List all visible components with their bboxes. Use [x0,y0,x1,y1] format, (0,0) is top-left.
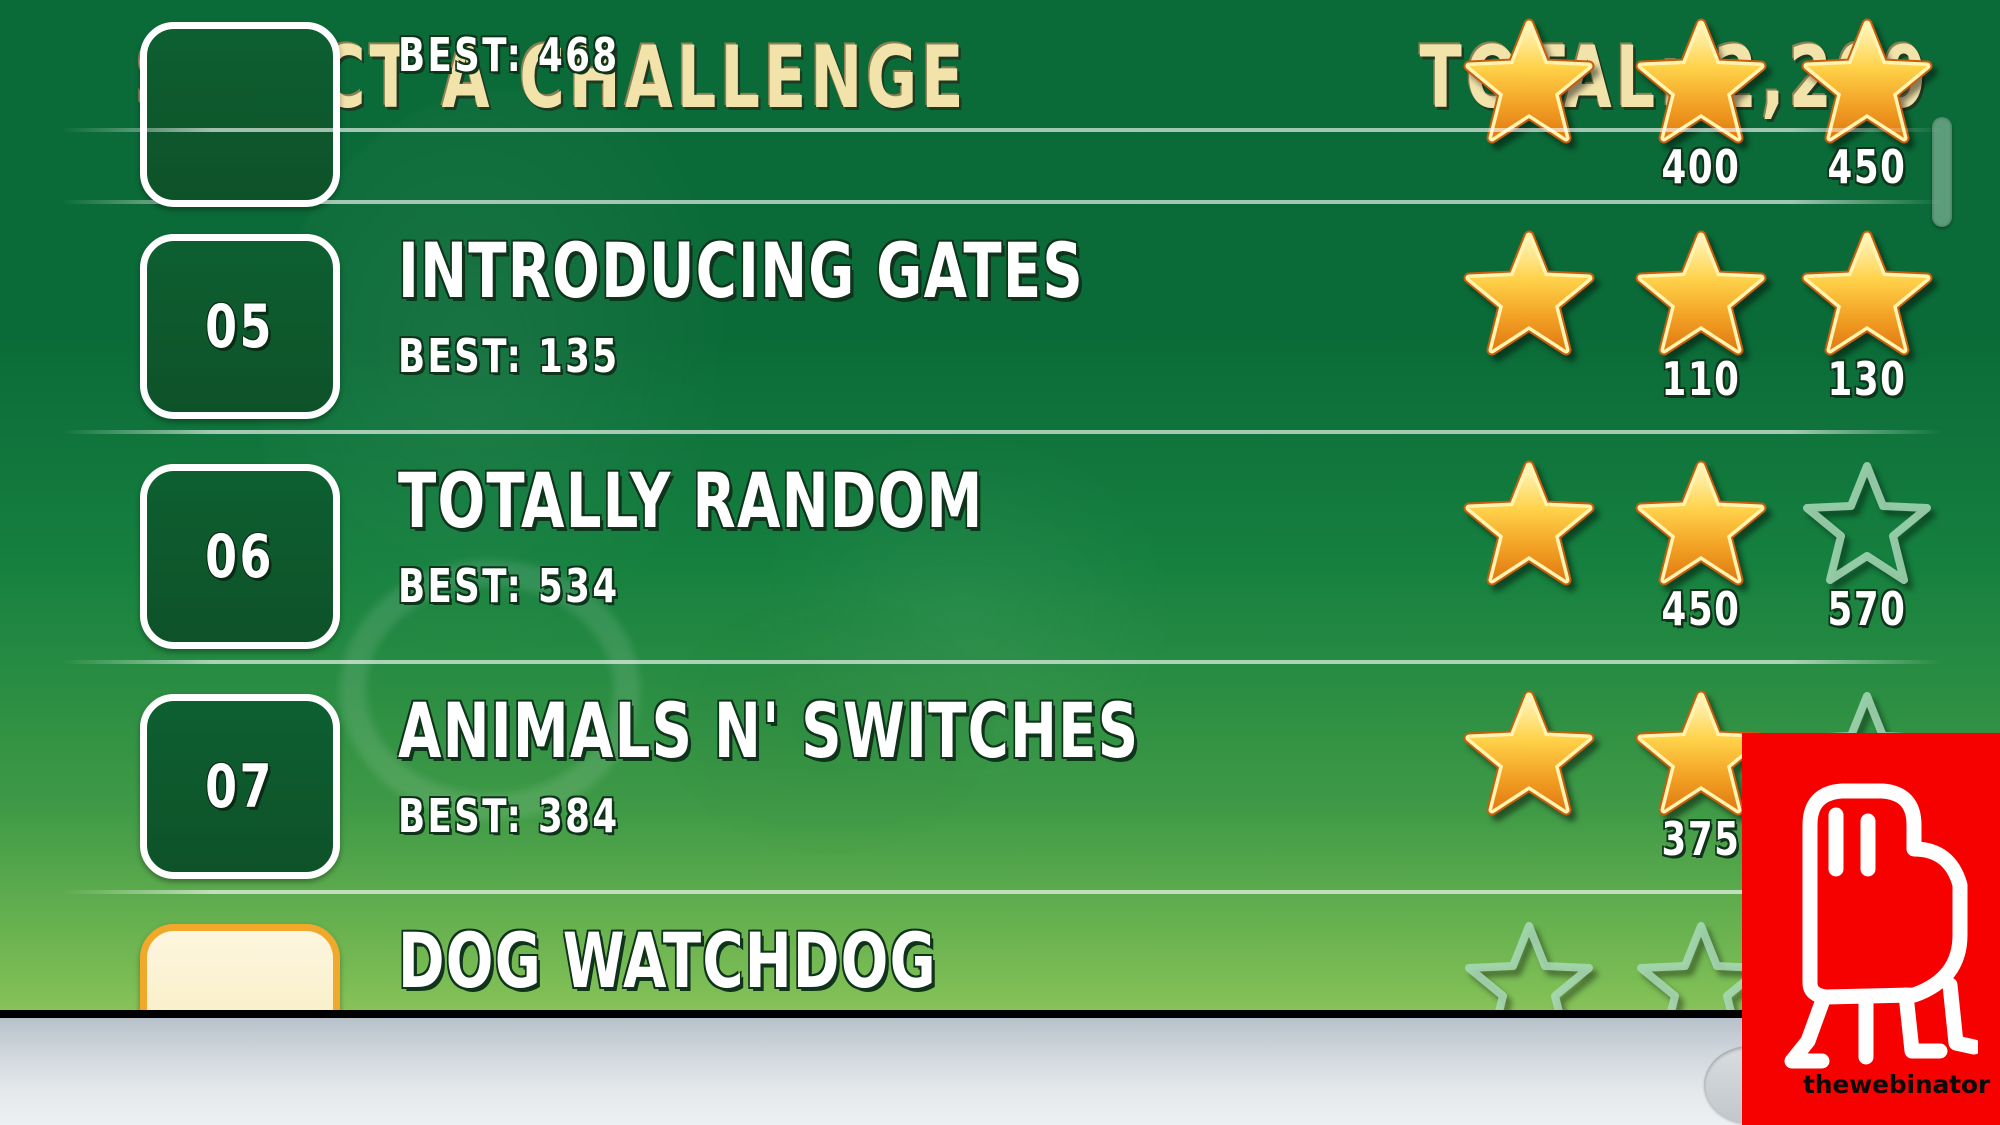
star-slot [1454,460,1604,582]
level-info: DOG WATCHDOG [398,916,1298,1019]
star-icon-filled [1463,690,1595,816]
watermark: thewebinator [1742,733,2000,1125]
star-icon-filled [1801,18,1933,144]
level-name: TOTALLY RANDOM [398,456,1136,545]
row-divider [62,660,1942,664]
star-threshold: 130 [1803,352,1932,406]
level-badge[interactable]: 07 [140,694,340,879]
star-icon-empty [1801,460,1933,586]
level-number: 07 [206,752,275,822]
level-number: 05 [206,292,275,362]
star-slot: 400 [1626,18,1776,194]
star-threshold: 400 [1637,140,1766,194]
row-divider [62,430,1942,434]
challenge-row[interactable]: 06 TOTALLY RANDOM BEST: 534 [0,442,2000,672]
star-slot: 110 [1626,230,1776,406]
bird-logo-icon [1764,757,1978,1075]
star-threshold: 570 [1803,582,1932,636]
star-icon-filled [1635,230,1767,356]
watermark-text: thewebinator [1803,1070,1990,1099]
star-rating: 400 450 [1440,18,1940,218]
level-info: BEST: 468 [398,14,1298,82]
level-badge[interactable]: 05 [140,234,340,419]
star-slot: 130 [1792,230,1942,406]
level-info: ANIMALS N' SWITCHES BEST: 384 [398,686,1298,843]
header-divider [62,128,1942,132]
level-best-score: BEST: 534 [398,559,1172,613]
level-best-score: BEST: 468 [398,28,1172,82]
level-best-score: BEST: 384 [398,789,1172,843]
star-icon-filled [1635,460,1767,586]
level-number: 06 [206,522,275,592]
level-name: DOG WATCHDOG [398,916,1136,1005]
level-badge[interactable] [140,22,340,207]
challenge-list[interactable]: BEST: 468 [0,160,2000,1010]
star-rating: 110 130 [1440,230,1940,430]
level-info: TOTALLY RANDOM BEST: 534 [398,456,1298,613]
star-slot [1454,18,1604,140]
star-threshold: 450 [1803,140,1932,194]
row-divider [62,890,1942,894]
star-threshold: 450 [1637,582,1766,636]
level-name: INTRODUCING GATES [398,226,1136,315]
challenge-row[interactable]: BEST: 468 [0,0,2000,230]
star-threshold: 110 [1637,352,1766,406]
scrollbar-thumb[interactable] [1932,117,1952,227]
star-icon-filled [1801,230,1933,356]
star-icon-filled [1635,18,1767,144]
star-slot: 570 [1792,460,1942,636]
challenge-row[interactable]: 05 INTRODUCING GATES BEST: 135 [0,212,2000,442]
star-icon-filled [1463,460,1595,586]
browser-bottom-bar [0,1010,2000,1125]
star-icon-filled [1463,230,1595,356]
star-slot: 450 [1792,18,1942,194]
star-slot [1454,230,1604,352]
challenge-row[interactable]: 07 ANIMALS N' SWITCHES BEST: 384 [0,672,2000,902]
level-best-score: BEST: 135 [398,329,1172,383]
star-slot [1454,690,1604,812]
level-info: INTRODUCING GATES BEST: 135 [398,226,1298,383]
level-badge[interactable]: 06 [140,464,340,649]
level-name: ANIMALS N' SWITCHES [398,686,1136,775]
game-screen: SELECT A CHALLENGE TOTAL: 2,209 BEST: 46… [0,0,2000,1125]
star-rating: 450 570 [1440,460,1940,660]
row-divider [62,200,1942,204]
star-slot: 450 [1626,460,1776,636]
star-icon-filled [1463,18,1595,144]
